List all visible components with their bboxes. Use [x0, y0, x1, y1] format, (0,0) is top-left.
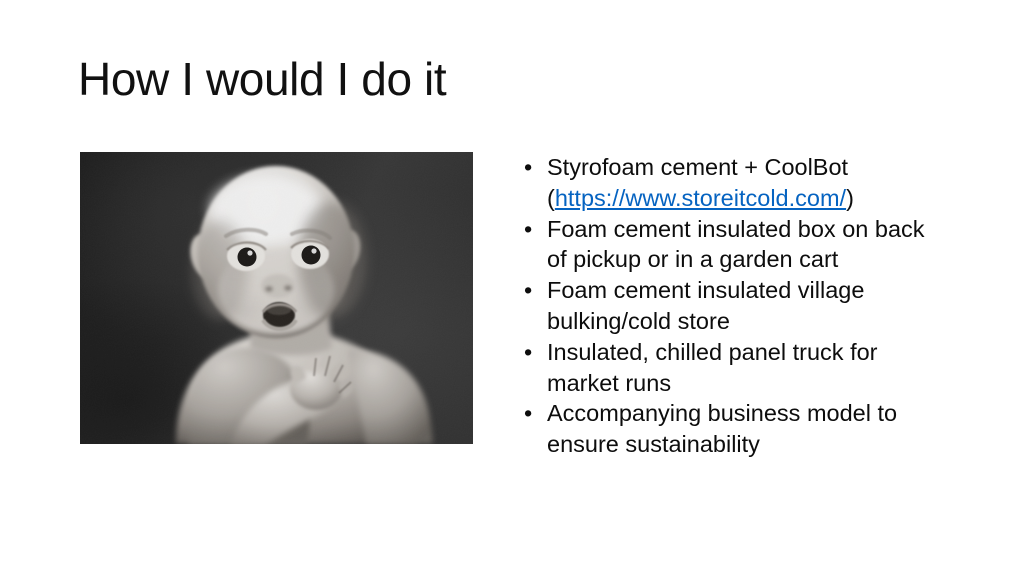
list-item-text: Foam cement insulated box on back of pic…	[547, 214, 938, 276]
list-item-text: Accompanying business model to ensure su…	[547, 398, 938, 460]
storeitcold-link[interactable]: https://www.storeitcold.com/	[555, 185, 846, 211]
bullet-list: • Styrofoam cement + CoolBot (https://ww…	[518, 152, 938, 460]
baby-photo	[80, 152, 473, 444]
bullet-point-icon: •	[518, 214, 547, 245]
list-item: • Accompanying business model to ensure …	[518, 398, 938, 460]
list-item-text: Foam cement insulated village bulking/co…	[547, 275, 938, 337]
slide: How I would I do it	[0, 0, 1024, 576]
list-item: • Foam cement insulated box on back of p…	[518, 214, 938, 276]
bullet-text-plain-close: )	[846, 185, 854, 211]
bullet-point-icon: •	[518, 152, 547, 183]
bullet-point-icon: •	[518, 275, 547, 306]
list-item-text: Insulated, chilled panel truck for marke…	[547, 337, 938, 399]
bullet-point-icon: •	[518, 337, 547, 368]
page-title: How I would I do it	[78, 52, 938, 106]
list-item: • Styrofoam cement + CoolBot (https://ww…	[518, 152, 938, 214]
list-item: • Insulated, chilled panel truck for mar…	[518, 337, 938, 399]
list-item: • Foam cement insulated village bulking/…	[518, 275, 938, 337]
list-item-text: Styrofoam cement + CoolBot (https://www.…	[547, 152, 938, 214]
bullet-point-icon: •	[518, 398, 547, 429]
baby-photo-graphic	[80, 152, 473, 444]
